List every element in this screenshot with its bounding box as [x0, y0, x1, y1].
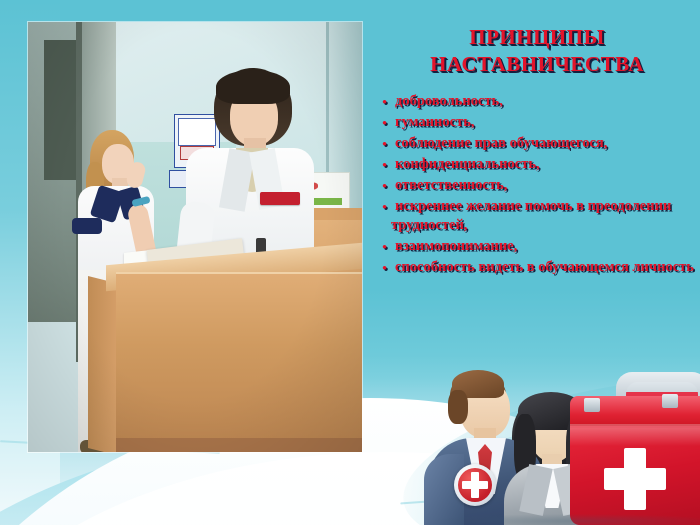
- list-item: •гуманность,: [378, 113, 696, 132]
- first-aid-kit-highlight: [570, 428, 700, 446]
- list-item-label: искреннее желание помочь в преодолении т…: [391, 197, 696, 235]
- title-line-1: ПРИНЦИПЫ: [382, 24, 692, 51]
- bullet-dot-icon: •: [378, 155, 391, 174]
- bullet-dot-icon: •: [378, 92, 391, 111]
- list-item: •взаимопонимание,: [378, 237, 696, 256]
- title-line-2: НАСТАВНИЧЕСТВА: [382, 51, 692, 78]
- first-aid-kit-latch-left: [584, 398, 600, 412]
- artwork-shadow: [430, 514, 700, 525]
- red-cross-badge-cross-horizontal: [462, 481, 488, 489]
- slide-canvas: ПРИНЦИПЫ НАСТАВНИЧЕСТВА •добровольность,…: [0, 0, 700, 525]
- principles-list: •добровольность,•гуманность,•соблюдение …: [378, 92, 696, 279]
- bullet-dot-icon: •: [378, 176, 391, 195]
- bullet-dot-icon: •: [378, 113, 391, 132]
- list-item-label: конфиденциальность,: [391, 155, 696, 174]
- first-aid-cross-horizontal: [604, 468, 666, 490]
- clinic-reception-photo: [28, 22, 362, 452]
- man-hair-side: [448, 390, 468, 424]
- list-item: •способность видеть в обучающемся личнос…: [378, 258, 696, 277]
- medical-team-artwork: [420, 368, 700, 525]
- bullet-dot-icon: •: [378, 197, 391, 216]
- bullet-dot-icon: •: [378, 258, 391, 277]
- bullet-dot-icon: •: [378, 134, 391, 153]
- list-item-label: соблюдение прав обучающегося,: [391, 134, 696, 153]
- list-item-label: способность видеть в обучающемся личност…: [391, 258, 696, 277]
- list-item: •добровольность,: [378, 92, 696, 111]
- photo-vignette: [28, 22, 362, 452]
- list-item-label: гуманность,: [391, 113, 696, 132]
- bullet-dot-icon: •: [378, 237, 391, 256]
- list-item: •соблюдение прав обучающегося,: [378, 134, 696, 153]
- first-aid-kit-latch-right: [662, 394, 678, 408]
- list-item-label: ответственность,: [391, 176, 696, 195]
- list-item-label: взаимопонимание,: [391, 237, 696, 256]
- page-title: ПРИНЦИПЫ НАСТАВНИЧЕСТВА: [382, 24, 692, 78]
- list-item: •ответственность,: [378, 176, 696, 195]
- list-item: •искреннее желание помочь в преодолении …: [378, 197, 696, 235]
- list-item: •конфиденциальность,: [378, 155, 696, 174]
- list-item-label: добровольность,: [391, 92, 696, 111]
